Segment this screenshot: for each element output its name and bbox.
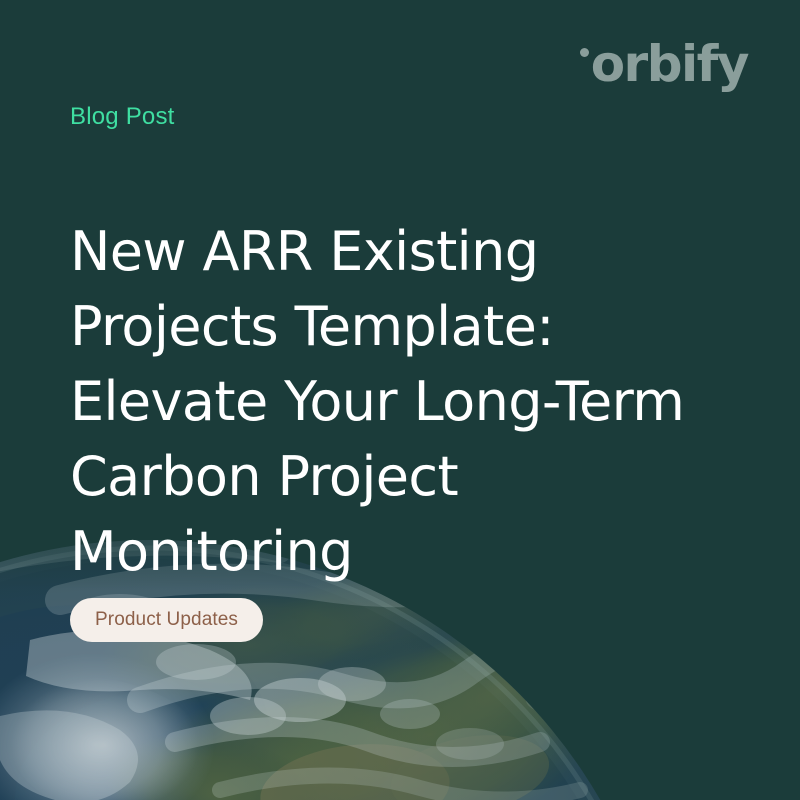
orbify-logo[interactable]: orbify bbox=[580, 36, 748, 92]
page-title: New ARR Existing Projects Template: Elev… bbox=[70, 214, 730, 589]
orbify-logo-dot-icon bbox=[580, 48, 589, 57]
blog-post-hero-card: orbify Blog Post New ARR Existing Projec… bbox=[0, 0, 800, 800]
orbify-logo-wordmark: orbify bbox=[591, 36, 748, 92]
content-type-label: Blog Post bbox=[70, 102, 175, 132]
category-tag-product-updates[interactable]: Product Updates bbox=[70, 598, 263, 642]
